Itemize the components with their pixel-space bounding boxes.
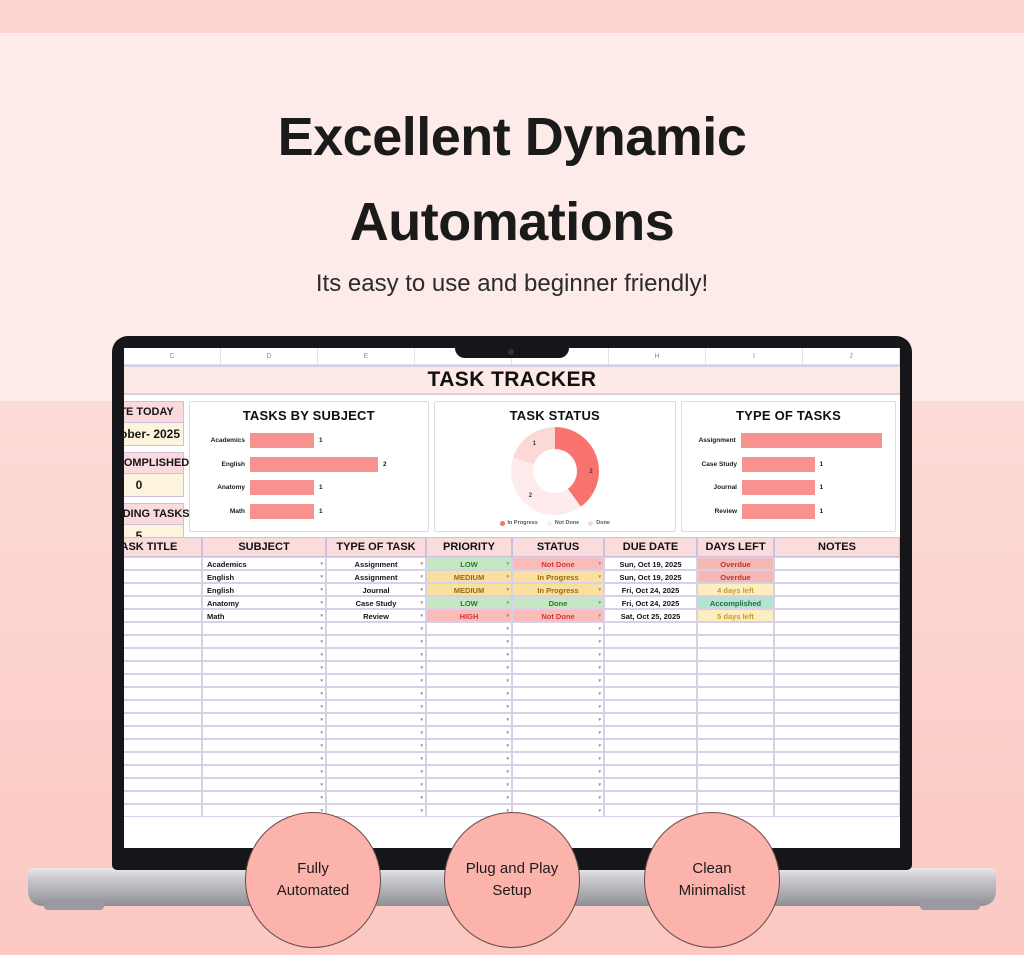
- table-cell-empty[interactable]: [697, 739, 774, 752]
- bar-row-english: English2: [198, 455, 420, 473]
- table-cell-empty[interactable]: [697, 635, 774, 648]
- dashboard-row: DATE TODAYOctober- 2025ACCOMPLISHED TASK…: [124, 395, 900, 537]
- table-cell-empty[interactable]: [426, 791, 512, 804]
- donut-value-done: 1: [533, 441, 536, 447]
- table-cell-empty[interactable]: [774, 674, 900, 687]
- table-cell-empty[interactable]: [202, 635, 326, 648]
- bar-row-review: Review1: [690, 502, 887, 520]
- table-cell-empty[interactable]: [326, 804, 426, 817]
- table-cell-empty[interactable]: [697, 713, 774, 726]
- table-cell-empty[interactable]: [512, 726, 604, 739]
- bar-row-anatomy: Anatomy1: [198, 479, 420, 497]
- table-cell-empty[interactable]: [326, 726, 426, 739]
- table-cell-subject[interactable]: Academics: [202, 557, 326, 570]
- table-cell-type-of-task[interactable]: Case Study: [326, 596, 426, 609]
- table-row-empty[interactable]: [124, 765, 900, 778]
- chart-title-task-status: TASK STATUS: [443, 408, 668, 423]
- table-cell-notes[interactable]: [774, 596, 900, 609]
- table-row[interactable]: AnatomyCase StudyLOWDoneFri, Oct 24, 202…: [124, 596, 900, 609]
- table-cell-empty[interactable]: [124, 791, 202, 804]
- table-cell-empty[interactable]: [426, 765, 512, 778]
- table-cell-empty[interactable]: [512, 687, 604, 700]
- table-cell-due-date[interactable]: Fri, Oct 24, 2025: [604, 596, 697, 609]
- table-header-priority: PRIORITY: [426, 537, 512, 557]
- table-cell-empty[interactable]: [124, 648, 202, 661]
- table-cell-notes[interactable]: [774, 557, 900, 570]
- table-cell-empty[interactable]: [202, 765, 326, 778]
- table-cell-empty[interactable]: [426, 752, 512, 765]
- table-cell-empty[interactable]: [202, 739, 326, 752]
- table-cell-empty[interactable]: [124, 687, 202, 700]
- headline-line-1: Excellent Dynamic: [0, 95, 1024, 180]
- task-table: TASK TITLESUBJECTTYPE OF TASKPRIORITYSTA…: [124, 537, 900, 817]
- table-row-empty[interactable]: [124, 726, 900, 739]
- table-cell-empty[interactable]: [426, 648, 512, 661]
- column-header-i[interactable]: I: [706, 348, 803, 365]
- table-cell-empty[interactable]: [697, 778, 774, 791]
- table-cell-empty[interactable]: [604, 635, 697, 648]
- table-cell-empty[interactable]: [774, 791, 900, 804]
- bar-value-1: 1: [820, 461, 824, 468]
- table-cell-days-left[interactable]: 5 days left: [697, 609, 774, 622]
- table-cell-type-of-task[interactable]: Assignment: [326, 557, 426, 570]
- table-cell-empty[interactable]: [697, 622, 774, 635]
- legend-dot-icon-2: [588, 521, 593, 526]
- table-cell-notes[interactable]: [774, 570, 900, 583]
- laptop-foot-left: [44, 903, 104, 910]
- chart-title-type-of-tasks: TYPE OF TASKS: [690, 408, 887, 423]
- table-cell-task-title[interactable]: [124, 583, 202, 596]
- table-body: er 9AcademicsAssignmentLOWNot DoneSun, O…: [124, 557, 900, 817]
- table-cell-empty[interactable]: [202, 778, 326, 791]
- table-cell-empty[interactable]: [512, 661, 604, 674]
- table-cell-empty[interactable]: [124, 622, 202, 635]
- table-cell-empty[interactable]: [512, 674, 604, 687]
- table-cell-empty[interactable]: [124, 804, 202, 817]
- table-cell-empty[interactable]: [604, 778, 697, 791]
- table-row-empty[interactable]: [124, 713, 900, 726]
- table-cell-empty[interactable]: [326, 700, 426, 713]
- chart-tasks-by-subject: TASKS BY SUBJECT Academics1English2Anato…: [189, 401, 429, 532]
- legend-item-done: Done: [588, 520, 610, 526]
- table-cell-empty[interactable]: [326, 778, 426, 791]
- column-header-h[interactable]: H: [609, 348, 706, 365]
- table-cell-empty[interactable]: [124, 739, 202, 752]
- headline-line-2: Automations: [0, 180, 1024, 265]
- table-cell-empty[interactable]: [326, 739, 426, 752]
- bar-chart-subject-bars: Academics1English2Anatomy1Math1: [198, 427, 420, 525]
- table-cell-empty[interactable]: [604, 661, 697, 674]
- table-row[interactable]: er 9EnglishAssignmentMEDIUMIn ProgressSu…: [124, 570, 900, 583]
- kpi-label-1: ACCOMPLISHED TASKS: [124, 453, 183, 474]
- table-row-empty[interactable]: [124, 648, 900, 661]
- feature-badge-3-line1: Clean: [679, 858, 746, 881]
- table-cell-status[interactable]: In Progress: [512, 583, 604, 596]
- laptop-foot-right: [920, 903, 980, 910]
- table-cell-empty[interactable]: [512, 778, 604, 791]
- table-cell-empty[interactable]: [774, 804, 900, 817]
- bar-label-0: Academics: [198, 437, 250, 444]
- bar-label-1: Case Study: [690, 461, 742, 468]
- table-cell-empty[interactable]: [774, 765, 900, 778]
- bar-value-2: 1: [820, 484, 824, 491]
- bar-3: [742, 504, 815, 519]
- table-cell-empty[interactable]: [697, 674, 774, 687]
- table-cell-empty[interactable]: [697, 726, 774, 739]
- table-cell-type-of-task[interactable]: Review: [326, 609, 426, 622]
- table-cell-empty[interactable]: [774, 661, 900, 674]
- table-cell-empty[interactable]: [426, 726, 512, 739]
- table-cell-empty[interactable]: [604, 791, 697, 804]
- table-cell-empty[interactable]: [774, 752, 900, 765]
- table-row-empty[interactable]: [124, 622, 900, 635]
- sheet-title: TASK TRACKER: [428, 368, 597, 392]
- feature-badge-1-line1: Fully: [277, 858, 350, 881]
- table-cell-empty[interactable]: [124, 778, 202, 791]
- table-cell-days-left[interactable]: Overdue: [697, 557, 774, 570]
- table-cell-due-date[interactable]: Sun, Oct 19, 2025: [604, 557, 697, 570]
- table-cell-empty[interactable]: [604, 674, 697, 687]
- table-cell-status[interactable]: Not Done: [512, 557, 604, 570]
- table-cell-empty[interactable]: [604, 648, 697, 661]
- table-cell-empty[interactable]: [202, 674, 326, 687]
- table-cell-empty[interactable]: [512, 622, 604, 635]
- table-cell-empty[interactable]: [124, 752, 202, 765]
- table-cell-due-date[interactable]: Sun, Oct 19, 2025: [604, 570, 697, 583]
- table-cell-empty[interactable]: [512, 752, 604, 765]
- bar-row-journal: Journal1: [690, 479, 887, 497]
- bar-1: [742, 457, 815, 472]
- table-cell-empty[interactable]: [326, 661, 426, 674]
- table-cell-subject[interactable]: Math: [202, 609, 326, 622]
- table-cell-empty[interactable]: [774, 700, 900, 713]
- table-cell-empty[interactable]: [124, 674, 202, 687]
- legend-label-2: Done: [596, 520, 610, 526]
- table-cell-empty[interactable]: [774, 726, 900, 739]
- donut-chart-wrapper: 2 2 1 In ProgressNot DoneDone: [443, 427, 668, 526]
- table-cell-notes[interactable]: [774, 583, 900, 596]
- table-cell-empty[interactable]: [326, 635, 426, 648]
- kpi-column: DATE TODAYOctober- 2025ACCOMPLISHED TASK…: [124, 401, 184, 532]
- table-cell-empty[interactable]: [774, 648, 900, 661]
- table-cell-empty[interactable]: [202, 687, 326, 700]
- kpi-label-0: DATE TODAY: [124, 402, 183, 423]
- column-header-d[interactable]: D: [221, 348, 318, 365]
- table-cell-empty[interactable]: [124, 765, 202, 778]
- table-cell-empty[interactable]: [604, 726, 697, 739]
- bar-label-3: Review: [690, 508, 742, 515]
- table-cell-status[interactable]: Done: [512, 596, 604, 609]
- promo-page: Excellent Dynamic Automations Its easy t…: [0, 0, 1024, 955]
- camera-icon: [508, 349, 514, 355]
- table-row[interactable]: er 9AcademicsAssignmentLOWNot DoneSun, O…: [124, 557, 900, 570]
- table-cell-task-title[interactable]: [124, 609, 202, 622]
- table-row-empty[interactable]: [124, 791, 900, 804]
- table-cell-status[interactable]: In Progress: [512, 570, 604, 583]
- table-cell-empty[interactable]: [202, 661, 326, 674]
- table-cell-days-left[interactable]: Accomplished: [697, 596, 774, 609]
- table-cell-empty[interactable]: [326, 765, 426, 778]
- table-cell-empty[interactable]: [604, 622, 697, 635]
- bar-label-1: English: [198, 461, 250, 468]
- table-cell-empty[interactable]: [124, 713, 202, 726]
- bar-value-3: 1: [820, 508, 824, 515]
- table-cell-empty[interactable]: [604, 752, 697, 765]
- table-cell-empty[interactable]: [202, 648, 326, 661]
- table-header-days-left: DAYS LEFT: [697, 537, 774, 557]
- table-cell-empty[interactable]: [512, 635, 604, 648]
- table-row-empty[interactable]: [124, 778, 900, 791]
- table-cell-days-left[interactable]: 4 days left: [697, 583, 774, 596]
- donut-chart-legend: In ProgressNot DoneDone: [500, 520, 610, 526]
- table-cell-empty[interactable]: [604, 765, 697, 778]
- bar-label-0: Assignment: [690, 437, 741, 444]
- donut-value-in-progress: 2: [589, 469, 592, 475]
- table-header-due-date: DUE DATE: [604, 537, 697, 557]
- kpi-card-0: DATE TODAYOctober- 2025: [124, 401, 184, 446]
- table-cell-empty[interactable]: [426, 687, 512, 700]
- table-cell-empty[interactable]: [326, 622, 426, 635]
- table-cell-empty[interactable]: [774, 622, 900, 635]
- feature-badge-clean-minimalist: Clean Minimalist: [644, 812, 780, 948]
- legend-label-0: In Progress: [508, 520, 538, 526]
- legend-item-in-progress: In Progress: [500, 520, 538, 526]
- table-cell-empty[interactable]: [774, 739, 900, 752]
- table-cell-priority[interactable]: MEDIUM: [426, 570, 512, 583]
- table-cell-empty[interactable]: [604, 700, 697, 713]
- chart-task-status: TASK STATUS 2 2 1 In ProgressNot DoneDon…: [434, 401, 677, 532]
- table-cell-subject[interactable]: Anatomy: [202, 596, 326, 609]
- kpi-value-0: October- 2025: [124, 423, 183, 445]
- table-header-status: STATUS: [512, 537, 604, 557]
- feature-badge-2-line1: Plug and Play: [466, 858, 559, 881]
- table-row-empty[interactable]: [124, 661, 900, 674]
- feature-badge-2-line2: Setup: [466, 880, 559, 903]
- table-cell-empty[interactable]: [697, 687, 774, 700]
- table-cell-subject[interactable]: English: [202, 570, 326, 583]
- kpi-label-2: PENDING TASKS: [124, 504, 183, 525]
- table-cell-empty[interactable]: [697, 648, 774, 661]
- table-cell-empty[interactable]: [697, 700, 774, 713]
- table-cell-empty[interactable]: [604, 687, 697, 700]
- table-cell-empty[interactable]: [697, 661, 774, 674]
- laptop-body: CDEGHIJ TASK TRACKER DATE TODAYOctober- …: [112, 336, 912, 870]
- legend-label-1: Not Done: [555, 520, 579, 526]
- bar-label-2: Anatomy: [198, 484, 250, 491]
- table-cell-subject[interactable]: English: [202, 583, 326, 596]
- feature-badge-fully-automated: Fully Automated: [245, 812, 381, 948]
- table-cell-empty[interactable]: [774, 635, 900, 648]
- table-cell-empty[interactable]: [202, 622, 326, 635]
- table-cell-due-date[interactable]: Fri, Oct 24, 2025: [604, 583, 697, 596]
- table-cell-priority[interactable]: MEDIUM: [426, 583, 512, 596]
- bar-row-assignment: Assignment: [690, 432, 887, 450]
- table-header-task-title: TASK TITLE: [124, 537, 202, 557]
- chart-title-tasks-by-subject: TASKS BY SUBJECT: [198, 408, 420, 423]
- table-row[interactable]: MathReviewHIGHNot DoneSat, Oct 25, 20255…: [124, 609, 900, 622]
- bar-2: [742, 480, 815, 495]
- table-cell-task-title[interactable]: er 9: [124, 557, 202, 570]
- bar-value-0: 1: [319, 437, 323, 444]
- bar-row-case-study: Case Study1: [690, 455, 887, 473]
- kpi-card-1: ACCOMPLISHED TASKS0: [124, 452, 184, 497]
- table-header-notes: NOTES: [774, 537, 900, 557]
- bar-value-1: 2: [383, 461, 387, 468]
- table-cell-empty[interactable]: [202, 713, 326, 726]
- table-row-empty[interactable]: [124, 635, 900, 648]
- table-cell-empty[interactable]: [202, 791, 326, 804]
- table-cell-empty[interactable]: [512, 700, 604, 713]
- table-cell-empty[interactable]: [426, 778, 512, 791]
- table-cell-empty[interactable]: [124, 635, 202, 648]
- table-cell-empty[interactable]: [426, 739, 512, 752]
- bar-3: [250, 504, 314, 519]
- bar-2: [250, 480, 314, 495]
- table-cell-empty[interactable]: [202, 700, 326, 713]
- feature-badge-plug-and-play: Plug and Play Setup: [444, 812, 580, 948]
- table-cell-due-date[interactable]: Sat, Oct 25, 2025: [604, 609, 697, 622]
- bar-chart-type-bars: AssignmentCase Study1Journal1Review1: [690, 427, 887, 525]
- donut-chart: 2 2 1: [511, 427, 599, 515]
- bar-0: [741, 433, 882, 448]
- feature-badge-1-line2: Automated: [277, 880, 350, 903]
- table-row-empty[interactable]: [124, 674, 900, 687]
- table-row-empty[interactable]: [124, 687, 900, 700]
- table-cell-empty[interactable]: [326, 674, 426, 687]
- bar-value-2: 1: [319, 484, 323, 491]
- table-cell-empty[interactable]: [426, 700, 512, 713]
- table-cell-empty[interactable]: [426, 622, 512, 635]
- table-cell-empty[interactable]: [604, 739, 697, 752]
- bar-label-3: Math: [198, 508, 250, 515]
- table-cell-priority[interactable]: HIGH: [426, 609, 512, 622]
- kpi-value-1: 0: [124, 474, 183, 496]
- table-cell-task-title[interactable]: er 9: [124, 570, 202, 583]
- table-cell-empty[interactable]: [202, 752, 326, 765]
- page-title: Excellent Dynamic Automations: [0, 95, 1024, 266]
- table-cell-empty[interactable]: [697, 752, 774, 765]
- background-top-strip: [0, 0, 1024, 33]
- legend-dot-icon-1: [547, 521, 552, 526]
- table-cell-empty[interactable]: [326, 713, 426, 726]
- table-cell-priority[interactable]: LOW: [426, 557, 512, 570]
- table-cell-empty[interactable]: [512, 648, 604, 661]
- table-cell-type-of-task[interactable]: Assignment: [326, 570, 426, 583]
- table-cell-empty[interactable]: [326, 791, 426, 804]
- table-cell-empty[interactable]: [774, 687, 900, 700]
- table-row-empty[interactable]: [124, 752, 900, 765]
- table-cell-empty[interactable]: [697, 765, 774, 778]
- table-cell-empty[interactable]: [774, 778, 900, 791]
- table-cell-priority[interactable]: LOW: [426, 596, 512, 609]
- table-cell-empty[interactable]: [124, 661, 202, 674]
- table-cell-empty[interactable]: [326, 687, 426, 700]
- table-cell-empty[interactable]: [426, 661, 512, 674]
- table-cell-empty[interactable]: [512, 791, 604, 804]
- column-header-j[interactable]: J: [803, 348, 900, 365]
- feature-badge-3-line2: Minimalist: [679, 880, 746, 903]
- table-cell-empty[interactable]: [202, 726, 326, 739]
- column-header-e[interactable]: E: [318, 348, 415, 365]
- table-cell-type-of-task[interactable]: Journal: [326, 583, 426, 596]
- legend-dot-icon-0: [500, 521, 505, 526]
- table-header-row: TASK TITLESUBJECTTYPE OF TASKPRIORITYSTA…: [124, 537, 900, 557]
- table-cell-empty[interactable]: [426, 635, 512, 648]
- table-cell-empty[interactable]: [604, 804, 697, 817]
- bar-value-3: 1: [319, 508, 323, 515]
- table-cell-empty[interactable]: [326, 648, 426, 661]
- bar-label-2: Journal: [690, 484, 742, 491]
- chart-type-of-tasks: TYPE OF TASKS AssignmentCase Study1Journ…: [681, 401, 896, 532]
- table-cell-empty[interactable]: [512, 713, 604, 726]
- table-cell-status[interactable]: Not Done: [512, 609, 604, 622]
- table-cell-notes[interactable]: [774, 609, 900, 622]
- table-cell-empty[interactable]: [604, 713, 697, 726]
- bar-1: [250, 457, 378, 472]
- table-cell-empty[interactable]: [512, 739, 604, 752]
- table-cell-days-left[interactable]: Overdue: [697, 570, 774, 583]
- table-cell-empty[interactable]: [326, 752, 426, 765]
- bar-row-math: Math1: [198, 502, 420, 520]
- table-cell-empty[interactable]: [697, 791, 774, 804]
- bar-row-academics: Academics1: [198, 432, 420, 450]
- table-header-subject: SUBJECT: [202, 537, 326, 557]
- table-cell-empty[interactable]: [124, 700, 202, 713]
- table-cell-empty[interactable]: [512, 765, 604, 778]
- sheet-title-bar: TASK TRACKER: [124, 365, 900, 395]
- table-cell-empty[interactable]: [426, 674, 512, 687]
- table-header-type-of-task: TYPE OF TASK: [326, 537, 426, 557]
- table-cell-empty[interactable]: [774, 713, 900, 726]
- laptop-screen: CDEGHIJ TASK TRACKER DATE TODAYOctober- …: [124, 348, 900, 848]
- table-row[interactable]: EnglishJournalMEDIUMIn ProgressFri, Oct …: [124, 583, 900, 596]
- column-header-c[interactable]: C: [124, 348, 221, 365]
- table-cell-empty[interactable]: [124, 726, 202, 739]
- table-row-empty[interactable]: [124, 739, 900, 752]
- donut-value-not-done: 2: [529, 493, 532, 499]
- subheadline: Its easy to use and beginner friendly!: [0, 270, 1024, 298]
- table-cell-empty[interactable]: [426, 713, 512, 726]
- bar-0: [250, 433, 314, 448]
- legend-item-not-done: Not Done: [547, 520, 579, 526]
- table-cell-task-title[interactable]: [124, 596, 202, 609]
- table-row-empty[interactable]: [124, 700, 900, 713]
